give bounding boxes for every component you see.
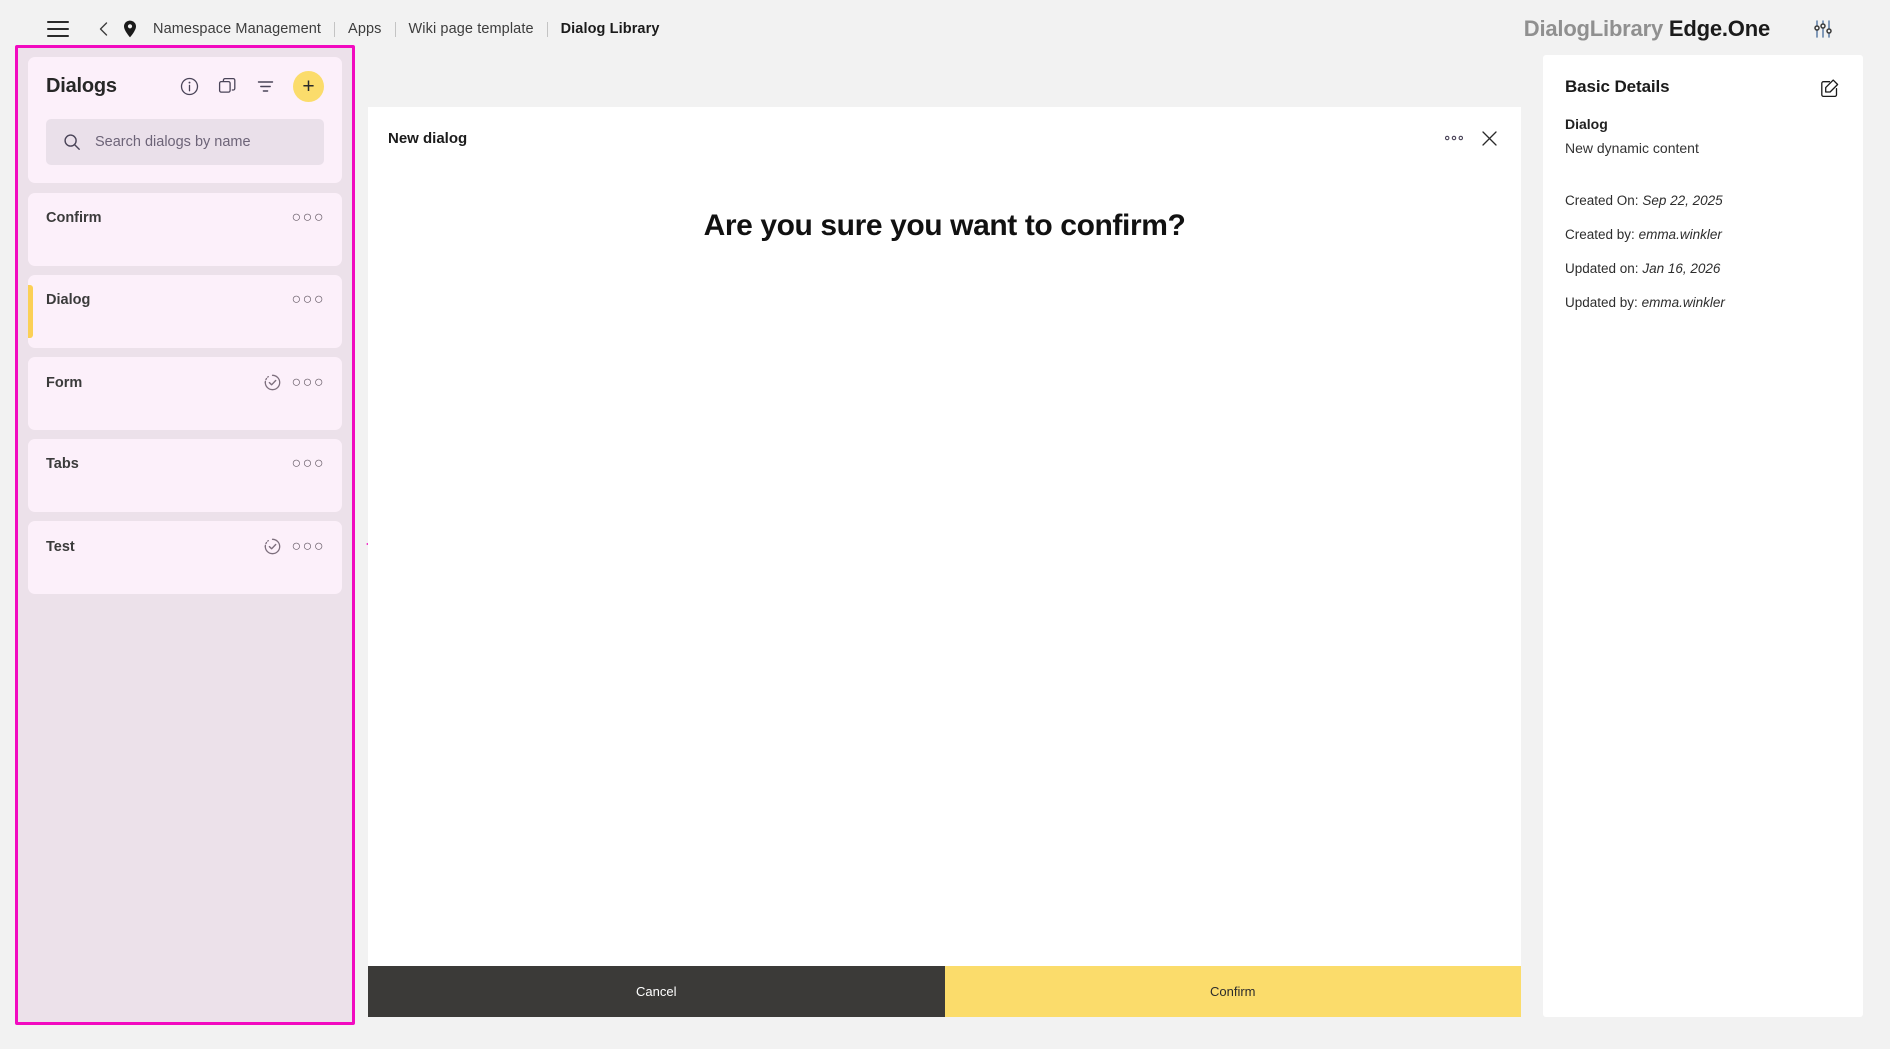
- filter-icon[interactable]: [253, 75, 277, 99]
- sidebar-title: Dialogs: [46, 75, 117, 98]
- dialog-question-text: Are you sure you want to confirm?: [704, 209, 1186, 966]
- list-item-label: Tabs: [46, 456, 79, 472]
- meta-value: Jan 16, 2026: [1642, 261, 1720, 276]
- add-dialog-button[interactable]: +: [293, 71, 324, 102]
- pending-clock-icon[interactable]: [264, 538, 281, 555]
- list-item-confirm[interactable]: Confirm ○○○: [28, 193, 342, 266]
- panel-title: Basic Details: [1565, 77, 1670, 97]
- list-item-menu-icon[interactable]: ○○○: [292, 539, 326, 555]
- brand-prefix: DialogLibrary: [1524, 16, 1663, 41]
- info-icon[interactable]: [177, 75, 201, 99]
- list-item-form[interactable]: Form ○○○: [28, 357, 342, 430]
- app-root: Namespace Management Apps Wiki page temp…: [0, 0, 1890, 1049]
- brand-suffix: Edge.One: [1669, 16, 1770, 41]
- meta-value: Sep 22, 2025: [1642, 193, 1722, 208]
- dialog-header: New dialog: [368, 107, 1521, 169]
- meta-label: Created by:: [1565, 227, 1635, 242]
- breadcrumb-item-2[interactable]: Wiki page template: [396, 21, 547, 37]
- list-item-menu-icon[interactable]: ○○○: [292, 375, 326, 391]
- meta-created-by: Created by: emma.winkler: [1565, 227, 1841, 242]
- list-item-label: Test: [46, 539, 75, 555]
- meta-label: Created On:: [1565, 193, 1639, 208]
- meta-created-on: Created On: Sep 22, 2025: [1565, 193, 1841, 208]
- list-item-menu-icon[interactable]: ○○○: [292, 210, 326, 226]
- search-icon: [63, 133, 81, 151]
- sidebar-header: Dialogs: [28, 57, 342, 183]
- meta-updated-on: Updated on: Jan 16, 2026: [1565, 261, 1841, 276]
- hamburger-icon[interactable]: [47, 21, 69, 37]
- list-item-menu-icon[interactable]: ○○○: [292, 456, 326, 472]
- dialog-more-icon[interactable]: [1445, 135, 1463, 141]
- dialog-title: New dialog: [388, 130, 467, 147]
- basic-details-panel: Basic Details Dialog New dynamic content…: [1543, 55, 1863, 1017]
- meta-label: Updated on:: [1565, 261, 1639, 276]
- confirm-button[interactable]: Confirm: [945, 966, 1522, 1017]
- edit-square-icon[interactable]: [1819, 77, 1841, 99]
- list-item-dialog[interactable]: Dialog ○○○: [28, 275, 342, 348]
- search-input[interactable]: [95, 134, 307, 150]
- search-box[interactable]: [46, 119, 324, 165]
- list-item-test[interactable]: Test ○○○: [28, 521, 342, 594]
- dialog-footer: Cancel Confirm: [368, 966, 1521, 1017]
- map-pin-icon[interactable]: [123, 20, 137, 38]
- meta-label: Updated by:: [1565, 295, 1638, 310]
- list-item-label: Form: [46, 375, 82, 391]
- detail-name: Dialog: [1565, 116, 1841, 132]
- meta-value: emma.winkler: [1639, 227, 1722, 242]
- list-item-menu-icon[interactable]: ○○○: [292, 292, 326, 308]
- list-item-label: Dialog: [46, 292, 90, 308]
- dialog-body: Are you sure you want to confirm?: [368, 169, 1521, 966]
- close-icon[interactable]: [1479, 128, 1499, 148]
- breadcrumb-item-1[interactable]: Apps: [335, 21, 394, 37]
- pending-clock-icon[interactable]: [264, 374, 281, 391]
- dialog-list: Confirm ○○○ Dialog ○○○ Form: [18, 193, 352, 594]
- copy-icon[interactable]: [215, 75, 239, 99]
- breadcrumb-item-current: Dialog Library: [548, 21, 673, 37]
- app-brand: DialogLibrary Edge.One: [1524, 16, 1770, 42]
- cancel-button[interactable]: Cancel: [368, 966, 945, 1017]
- detail-description: New dynamic content: [1565, 140, 1841, 156]
- breadcrumb-item-0[interactable]: Namespace Management: [153, 21, 334, 37]
- meta-value: emma.winkler: [1642, 295, 1725, 310]
- breadcrumb: Namespace Management Apps Wiki page temp…: [153, 21, 673, 37]
- dialogs-sidebar: Dialogs: [15, 45, 355, 1025]
- sliders-icon[interactable]: [1810, 16, 1836, 42]
- dialog-preview-panel: New dialog Are you sure you want to c: [368, 107, 1521, 1017]
- list-item-tabs[interactable]: Tabs ○○○: [28, 439, 342, 512]
- chevron-left-icon[interactable]: [97, 22, 109, 36]
- meta-updated-by: Updated by: emma.winkler: [1565, 295, 1841, 310]
- detail-meta-list: Created On: Sep 22, 2025 Created by: emm…: [1565, 193, 1841, 310]
- list-item-label: Confirm: [46, 210, 102, 226]
- sidebar-actions: +: [177, 71, 324, 102]
